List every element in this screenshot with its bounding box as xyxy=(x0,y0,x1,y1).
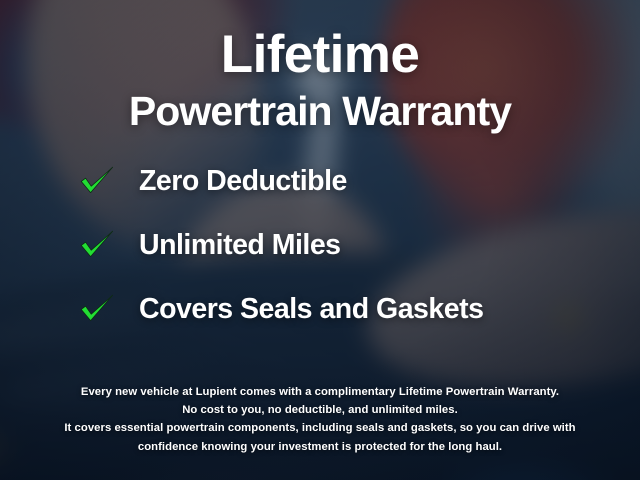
headline-line-2: Powertrain Warranty xyxy=(129,91,511,132)
description-line-1: Every new vehicle at Lupient comes with … xyxy=(20,383,620,401)
warranty-description: Every new vehicle at Lupient comes with … xyxy=(20,383,620,456)
description-line-2: No cost to you, no deductible, and unlim… xyxy=(20,401,620,419)
check-icon xyxy=(78,290,116,328)
description-line-4: confidence knowing your investment is pr… xyxy=(20,438,620,456)
check-icon xyxy=(78,162,116,200)
description-line-3: It covers essential powertrain component… xyxy=(20,419,620,437)
benefit-label: Unlimited Miles xyxy=(139,229,341,262)
warranty-promo-banner: Lifetime Powertrain Warranty Zero Deduct… xyxy=(0,0,640,480)
banner-content: Lifetime Powertrain Warranty Zero Deduct… xyxy=(0,0,640,480)
benefit-item-unlimited-miles: Unlimited Miles xyxy=(78,226,640,264)
benefit-label: Zero Deductible xyxy=(139,165,347,198)
benefit-label: Covers Seals and Gaskets xyxy=(139,293,483,326)
check-icon xyxy=(78,226,116,264)
benefit-item-zero-deductible: Zero Deductible xyxy=(78,162,640,200)
benefits-list: Zero Deductible Unlimited Miles Covers S… xyxy=(0,162,640,328)
headline-line-1: Lifetime xyxy=(221,28,419,81)
benefit-item-covers-seals-and-gaskets: Covers Seals and Gaskets xyxy=(78,290,640,328)
